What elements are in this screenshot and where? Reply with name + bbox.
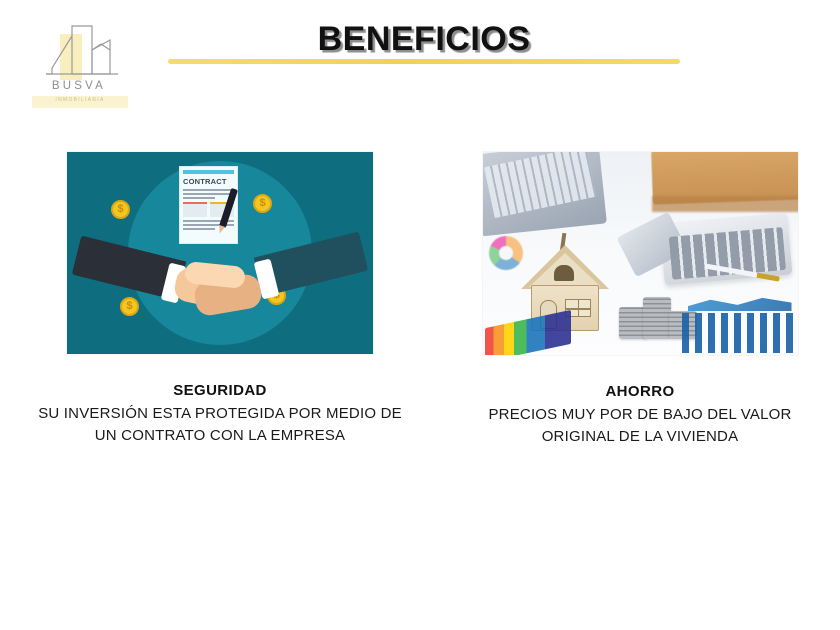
house-model-coins-calculator-photo (483, 152, 798, 355)
dollar-coin-icon: $ (120, 297, 139, 316)
benefit-description: SU INVERSIÓN ESTA PROTEGIDA POR MEDIO DE… (30, 403, 410, 446)
logo-tagline: INMOBILIARIA (32, 97, 128, 103)
keyboard-keys (483, 152, 596, 218)
wooden-desk-shadow (652, 196, 798, 212)
benefit-title: SEGURIDAD (30, 380, 410, 401)
title-underline-rule (168, 59, 680, 64)
laptop-icon (483, 152, 607, 236)
dollar-coin-icon: $ (253, 194, 272, 213)
photo-scene (483, 152, 798, 355)
company-logo: BUSVA INMOBILIARIA (26, 24, 132, 110)
logo-wordmark: BUSVA (26, 80, 132, 92)
benefit-caption-seguridad: SEGURIDAD SU INVERSIÓN ESTA PROTEGIDA PO… (30, 380, 410, 446)
contract-text-line (183, 189, 234, 191)
benefit-description: PRECIOS MUY POR DE BAJO DEL VALOR ORIGIN… (450, 404, 830, 447)
contract-text-line (183, 197, 215, 199)
page-title: BENEFICIOS (168, 20, 680, 59)
benefit-column-ahorro: AHORRO PRECIOS MUY POR DE BAJO DEL VALOR… (450, 152, 830, 447)
contract-header-bar (183, 170, 234, 174)
bar-chart-on-paper (682, 313, 794, 353)
coin-stack (643, 297, 671, 339)
contract-text-line (183, 193, 234, 195)
contract-field-block (183, 202, 207, 217)
building-outline-icon (26, 24, 132, 80)
benefit-title: AHORRO (450, 381, 830, 402)
benefit-caption-ahorro: AHORRO PRECIOS MUY POR DE BAJO DEL VALOR… (450, 381, 830, 447)
slide-canvas: BUSVA INMOBILIARIA BENEFICIOS $ $ $ $ CO… (0, 0, 840, 630)
area-chart-on-paper (688, 295, 792, 311)
dollar-coin-icon: $ (111, 200, 130, 219)
contract-document-label: CONTRACT (183, 177, 234, 186)
pie-chart-on-paper (489, 236, 523, 270)
house-attic-window (554, 265, 574, 281)
benefit-column-seguridad: $ $ $ $ CONTRACT (30, 152, 410, 446)
contract-text-line (183, 228, 215, 230)
handshake-contract-illustration: $ $ $ $ CONTRACT (67, 152, 373, 354)
